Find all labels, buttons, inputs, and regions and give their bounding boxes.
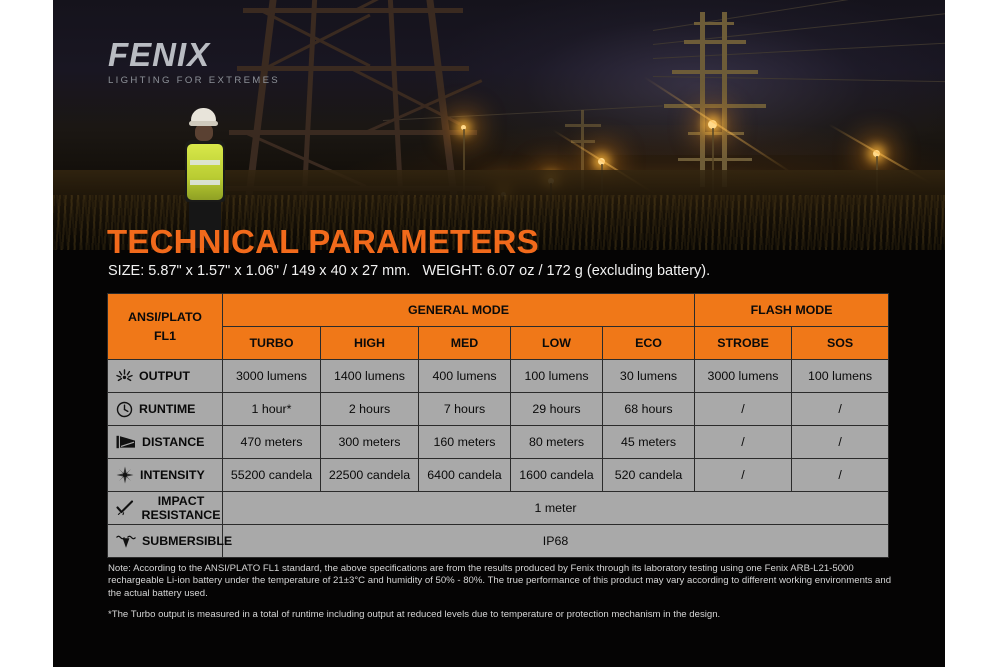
row-label-text: RUNTIME	[139, 402, 195, 416]
table-row-intensity: INTENSITY 55200 candela 22500 candela 64…	[108, 459, 889, 492]
row-label-intensity: INTENSITY	[108, 459, 223, 492]
mode-header-turbo: TURBO	[223, 327, 321, 360]
row-label-output: OUTPUT	[108, 360, 223, 393]
row-label-text: INTENSITY	[140, 468, 205, 482]
light-burst-icon	[116, 369, 133, 384]
water-wave-icon	[116, 534, 136, 549]
brand-wordmark: FENIX	[108, 38, 280, 71]
ansi-label-line2: FL1	[154, 329, 176, 343]
brand-tagline: LIGHTING FOR EXTREMES	[108, 75, 280, 86]
cell-output-eco: 30 lumens	[603, 360, 695, 393]
mode-header-eco: ECO	[603, 327, 695, 360]
cell-distance-turbo: 470 meters	[223, 426, 321, 459]
cell-output-strobe: 3000 lumens	[695, 360, 792, 393]
mode-header-low: LOW	[511, 327, 603, 360]
footnotes: Note: According to the ANSI/PLATO FL1 st…	[108, 563, 898, 631]
table-row-output: OUTPUT 3000 lumens 1400 lumens 400 lumen…	[108, 360, 889, 393]
cell-intensity-low: 1600 candela	[511, 459, 603, 492]
cell-intensity-turbo: 55200 candela	[223, 459, 321, 492]
cell-runtime-turbo: 1 hour*	[223, 393, 321, 426]
cell-output-med: 400 lumens	[419, 360, 511, 393]
row-label-impact-resistance: IMPACT RESISTANCE	[108, 492, 223, 525]
cell-runtime-high: 2 hours	[321, 393, 419, 426]
table-header-group-row: ANSI/PLATO FL1 GENERAL MODE FLASH MODE	[108, 294, 889, 327]
cell-runtime-strobe: /	[695, 393, 792, 426]
cell-submersible-value: IP68	[223, 525, 889, 558]
cell-distance-sos: /	[792, 426, 889, 459]
beam-distance-icon	[116, 435, 136, 449]
cell-runtime-med: 7 hours	[419, 393, 511, 426]
mode-header-sos: SOS	[792, 327, 889, 360]
ansi-label-line1: ANSI/PLATO	[128, 310, 202, 324]
size-weight-line: SIZE: 5.87" x 1.57" x 1.06" / 149 x 40 x…	[108, 263, 710, 279]
cell-runtime-low: 29 hours	[511, 393, 603, 426]
cell-distance-high: 300 meters	[321, 426, 419, 459]
table-row-runtime: RUNTIME 1 hour* 2 hours 7 hours 29 hours…	[108, 393, 889, 426]
page-title: TECHNICAL PARAMETERS	[107, 225, 539, 258]
group-header-flash-mode: FLASH MODE	[695, 294, 889, 327]
cell-runtime-eco: 68 hours	[603, 393, 695, 426]
technical-parameters-table: ANSI/PLATO FL1 GENERAL MODE FLASH MODE T…	[107, 293, 889, 558]
page-root: FENIX LIGHTING FOR EXTREMES TECHNICAL PA…	[0, 0, 1000, 667]
intensity-compass-icon	[116, 466, 134, 484]
mode-header-high: HIGH	[321, 327, 419, 360]
cell-runtime-sos: /	[792, 393, 889, 426]
table-row-submersible: SUBMERSIBLE IP68	[108, 525, 889, 558]
impact-check-icon	[116, 500, 134, 516]
vest-reflective-stripe	[190, 180, 220, 185]
fenix-logo: FENIX LIGHTING FOR EXTREMES	[108, 38, 280, 86]
vest-reflective-stripe	[190, 160, 220, 165]
mode-header-strobe: STROBE	[695, 327, 792, 360]
cell-impact-resistance-value: 1 meter	[223, 492, 889, 525]
cell-distance-low: 80 meters	[511, 426, 603, 459]
safety-helmet-brim	[189, 121, 218, 126]
mode-header-med: MED	[419, 327, 511, 360]
cell-intensity-med: 6400 candela	[419, 459, 511, 492]
worker-head	[195, 124, 213, 141]
cell-output-turbo: 3000 lumens	[223, 360, 321, 393]
row-label-text: DISTANCE	[142, 435, 204, 449]
hero-photo-night-powerline: FENIX LIGHTING FOR EXTREMES	[53, 0, 945, 250]
clock-icon	[116, 401, 133, 418]
cell-distance-eco: 45 meters	[603, 426, 695, 459]
cell-intensity-sos: /	[792, 459, 889, 492]
cell-output-low: 100 lumens	[511, 360, 603, 393]
cell-output-sos: 100 lumens	[792, 360, 889, 393]
table-mode-header-row: TURBO HIGH MED LOW ECO STROBE SOS	[108, 327, 889, 360]
row-label-text: SUBMERSIBLE	[142, 534, 232, 548]
row-label-submersible: SUBMERSIBLE	[108, 525, 223, 558]
row-label-text: IMPACT RESISTANCE	[140, 494, 222, 522]
cell-output-high: 1400 lumens	[321, 360, 419, 393]
cell-intensity-high: 22500 candela	[321, 459, 419, 492]
table-row-impact-resistance: IMPACT RESISTANCE 1 meter	[108, 492, 889, 525]
ansi-plato-corner-label: ANSI/PLATO FL1	[108, 294, 223, 360]
cell-intensity-strobe: /	[695, 459, 792, 492]
dark-panel: FENIX LIGHTING FOR EXTREMES TECHNICAL PA…	[53, 0, 945, 667]
cell-distance-strobe: /	[695, 426, 792, 459]
footnote-ansi-standard: Note: According to the ANSI/PLATO FL1 st…	[108, 563, 898, 600]
group-header-general-mode: GENERAL MODE	[223, 294, 695, 327]
hi-vis-vest	[187, 144, 223, 200]
table-row-distance: DISTANCE 470 meters 300 meters 160 meter…	[108, 426, 889, 459]
row-label-distance: DISTANCE	[108, 426, 223, 459]
row-label-text: OUTPUT	[139, 369, 190, 383]
row-label-runtime: RUNTIME	[108, 393, 223, 426]
cell-intensity-eco: 520 candela	[603, 459, 695, 492]
cell-distance-med: 160 meters	[419, 426, 511, 459]
footnote-turbo-asterisk: *The Turbo output is measured in a total…	[108, 609, 898, 621]
